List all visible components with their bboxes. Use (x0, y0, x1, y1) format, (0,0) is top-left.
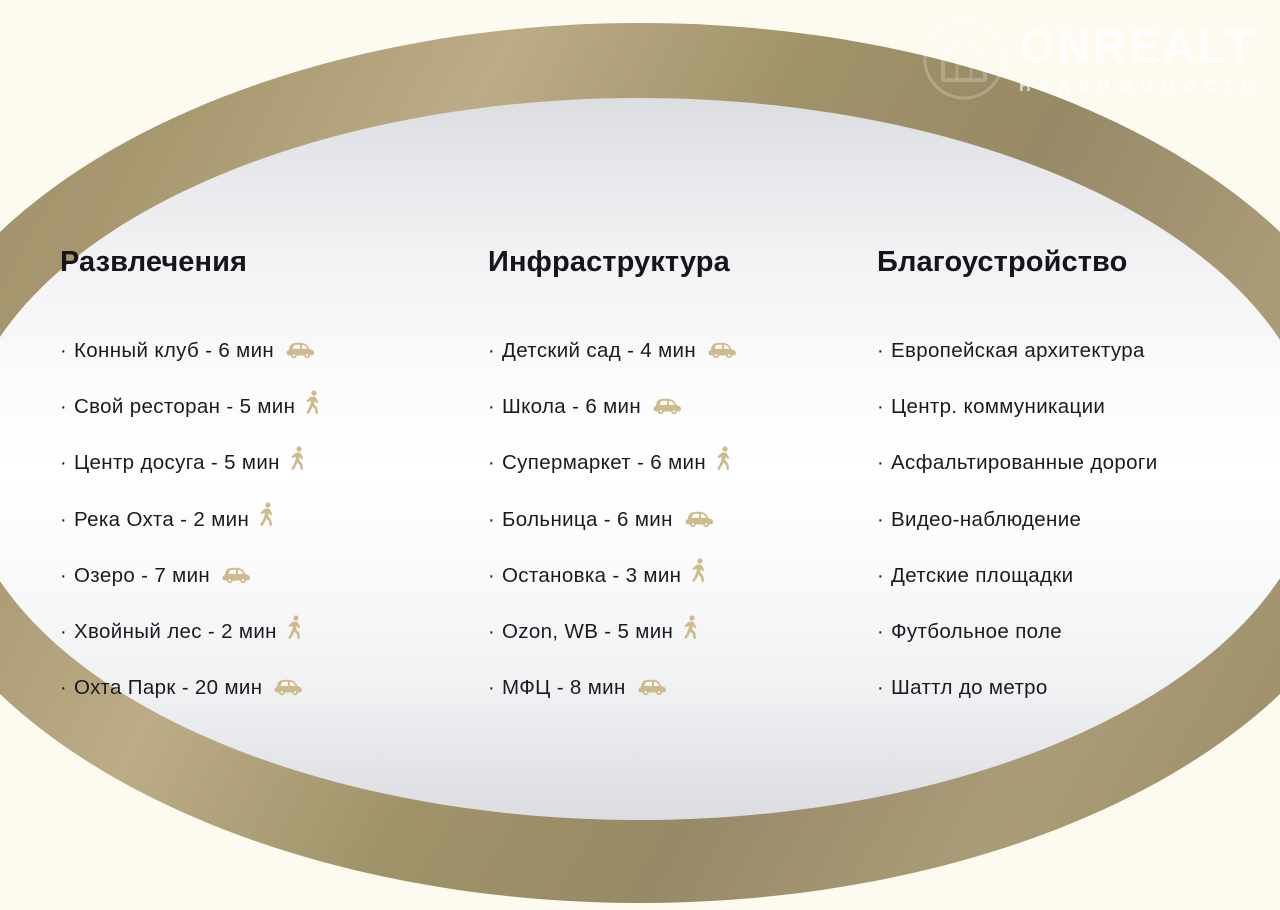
list-item: ·Охта Парк - 20 мин (60, 660, 460, 716)
bullet-marker: · (877, 397, 891, 417)
car-icon (273, 676, 303, 696)
car-icon (707, 339, 737, 359)
bullet-marker: · (877, 510, 891, 530)
list-item: ·Шаттл до метро (877, 660, 1247, 716)
bullet-marker: · (60, 453, 74, 473)
list-item-label: Центр досуга - 5 мин (74, 451, 280, 475)
list-item-label: Асфальтированные дороги (891, 451, 1158, 475)
list-item-label: Шаттл до метро (891, 676, 1048, 700)
column-heading: Инфраструктура (488, 246, 868, 279)
car-icon (221, 564, 251, 584)
bullet-marker: · (60, 622, 74, 642)
bullet-marker: · (488, 397, 502, 417)
content-area: Развлечения ·Конный клуб - 6 мин·Свой ре… (0, 0, 1280, 910)
bullet-marker: · (488, 453, 502, 473)
bullet-marker: · (488, 622, 502, 642)
bullet-marker: · (488, 341, 502, 361)
list-item-label: Река Охта - 2 мин (74, 508, 249, 532)
walking-icon (306, 390, 321, 415)
list-item: ·Конный клуб - 6 мин (60, 323, 460, 379)
walking-icon (288, 615, 303, 640)
list-item-label: Центр. коммуникации (891, 395, 1105, 419)
list-item: ·Школа - 6 мин (488, 379, 868, 435)
column-heading: Благоустройство (877, 246, 1247, 279)
list-item: ·Видео-наблюдение (877, 492, 1247, 548)
car-icon (637, 676, 667, 696)
list-item: ·Европейская архитектура (877, 323, 1247, 379)
list-item-label: Школа - 6 мин (502, 395, 641, 419)
list-item: ·Ozon, WB - 5 мин (488, 604, 868, 660)
column-heading: Развлечения (60, 246, 460, 279)
list-item-label: Остановка - 3 мин (502, 564, 681, 588)
list-item-label: Охта Парк - 20 мин (74, 676, 262, 700)
bullet-marker: · (877, 453, 891, 473)
amenity-list: ·Конный клуб - 6 мин·Свой ресторан - 5 м… (60, 323, 460, 716)
walking-icon (692, 558, 707, 583)
list-item-label: Конный клуб - 6 мин (74, 339, 274, 363)
list-item-label: Детский сад - 4 мин (502, 339, 696, 363)
list-item-label: Футбольное поле (891, 620, 1062, 644)
bullet-marker: · (877, 622, 891, 642)
list-item-label: Свой ресторан - 5 мин (74, 395, 295, 419)
list-item: ·Больница - 6 мин (488, 492, 868, 548)
bullet-marker: · (60, 678, 74, 698)
walking-icon (291, 446, 306, 471)
list-item: ·Асфальтированные дороги (877, 435, 1247, 491)
car-icon (652, 395, 682, 415)
list-item: ·Река Охта - 2 мин (60, 492, 460, 548)
list-item: ·МФЦ - 8 мин (488, 660, 868, 716)
column-entertainment: Развлечения ·Конный клуб - 6 мин·Свой ре… (60, 246, 460, 716)
slide-root: ONREALT НЕДВИЖИМОСТЬ Развлечения ·Конный… (0, 0, 1280, 910)
list-item: ·Озеро - 7 мин (60, 548, 460, 604)
list-item-label: Хвойный лес - 2 мин (74, 620, 277, 644)
car-icon (285, 339, 315, 359)
walking-icon (260, 502, 275, 527)
walking-icon (717, 446, 732, 471)
bullet-marker: · (60, 510, 74, 530)
bullet-marker: · (60, 566, 74, 586)
car-icon (684, 508, 714, 528)
amenity-list: ·Европейская архитектура·Центр. коммуник… (877, 323, 1247, 716)
bullet-marker: · (60, 341, 74, 361)
list-item: ·Хвойный лес - 2 мин (60, 604, 460, 660)
list-item-label: Озеро - 7 мин (74, 564, 210, 588)
list-item-label: Супермаркет - 6 мин (502, 451, 706, 475)
bullet-marker: · (877, 566, 891, 586)
list-item-label: Ozon, WB - 5 мин (502, 620, 673, 644)
bullet-marker: · (488, 678, 502, 698)
list-item: ·Остановка - 3 мин (488, 548, 868, 604)
list-item: ·Свой ресторан - 5 мин (60, 379, 460, 435)
walking-icon (684, 615, 699, 640)
list-item: ·Супермаркет - 6 мин (488, 435, 868, 491)
list-item-label: Детские площадки (891, 564, 1073, 588)
list-item: ·Центр досуга - 5 мин (60, 435, 460, 491)
bullet-marker: · (877, 678, 891, 698)
list-item-label: Больница - 6 мин (502, 508, 673, 532)
column-infrastructure: Инфраструктура ·Детский сад - 4 мин·Школ… (488, 246, 868, 716)
list-item: ·Футбольное поле (877, 604, 1247, 660)
list-item: ·Детские площадки (877, 548, 1247, 604)
list-item-label: Европейская архитектура (891, 339, 1145, 363)
bullet-marker: · (488, 566, 502, 586)
list-item-label: МФЦ - 8 мин (502, 676, 626, 700)
list-item: ·Детский сад - 4 мин (488, 323, 868, 379)
list-item: ·Центр. коммуникации (877, 379, 1247, 435)
bullet-marker: · (877, 341, 891, 361)
bullet-marker: · (488, 510, 502, 530)
amenity-list: ·Детский сад - 4 мин·Школа - 6 мин·Супер… (488, 323, 868, 716)
list-item-label: Видео-наблюдение (891, 508, 1081, 532)
bullet-marker: · (60, 397, 74, 417)
column-improvement: Благоустройство ·Европейская архитектура… (877, 246, 1247, 716)
